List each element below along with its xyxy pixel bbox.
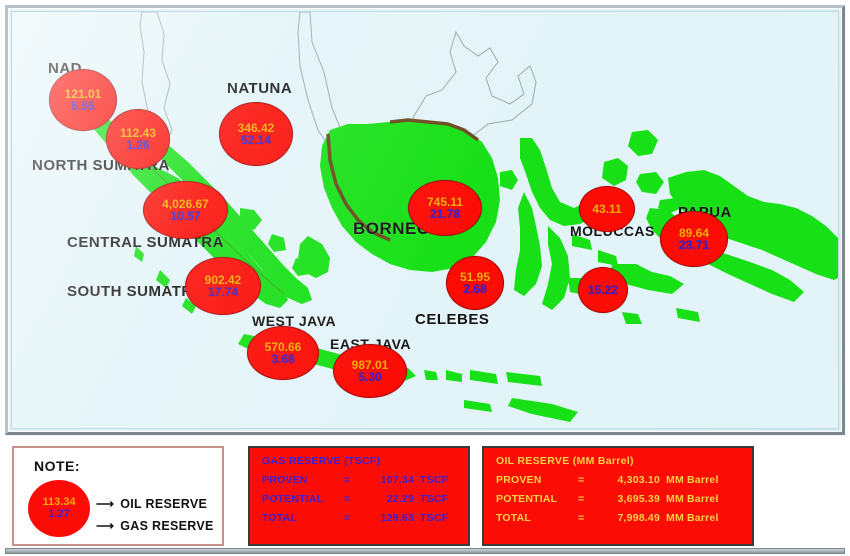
gas-potential-eq: = [344,493,360,505]
gas-total-unit: TSCF [420,512,448,524]
gas-proven-eq: = [344,474,360,486]
reserve-bubble-papua[interactable]: 89.64 23.71 [660,211,728,267]
reserve-bubble-celebes[interactable]: 51.95 2.68 [446,256,504,310]
reserve-bubble-nad[interactable]: 121.01 5.55 [49,69,117,131]
map-canvas[interactable]: NAD NATUNA NORTH SUMATRA CENTRAL SUMATRA… [11,11,839,429]
gas-value-papua: 23.71 [679,239,709,251]
oil-potential-unit: MM Barrel [666,493,719,505]
oil-total-eq: = [578,512,594,524]
gas-total-eq: = [344,512,360,524]
gas-reserve-panel: GAS RESERVE (TSCF) PROVEN = 107.34 TSCF … [248,446,470,546]
gas-proven-value: 107.34 [360,474,414,486]
note-row-oil: ⟶ OIL RESERVE [96,496,207,511]
gas-value-south-sumatra: 17.74 [208,286,238,298]
gas-potential-unit: TSCF [420,493,448,505]
oil-total-unit: MM Barrel [666,512,719,524]
arrow-right-icon-oil: ⟶ [96,496,114,511]
gas-value-nad: 5.55 [71,100,94,112]
gas-proven-label: PROVEN [262,474,344,486]
note-sample-gas-value: 1.27 [48,509,69,521]
region-label-celebes: CELEBES [415,311,489,328]
gas-value-west-java: 3.68 [271,353,294,365]
reserve-bubble-south-moluccas[interactable]: 15.22 [578,267,628,313]
oil-proven-unit: MM Barrel [666,474,719,486]
oil-total-value: 7,998.49 [594,512,660,524]
note-row-gas: ⟶ GAS RESERVE [96,518,214,533]
oil-row-potential: POTENTIAL = 3,695.39 MM Barrel [496,493,742,505]
note-sample-oil-value: 113.34 [42,497,75,509]
oil-total-label: TOTAL [496,512,578,524]
oil-row-proven: PROVEN = 4,303.10 MM Barrel [496,474,742,486]
gas-potential-label: POTENTIAL [262,493,344,505]
arrow-right-icon-gas: ⟶ [96,518,114,533]
reserve-bubble-moluccas[interactable]: 43.11 [579,186,635,232]
gas-value-central-sumatra: 10.57 [170,210,200,222]
gas-value-north-sumatra: 1.26 [126,139,149,151]
gas-row-potential: POTENTIAL = 22.29 TSCF [262,493,458,505]
gas-potential-value: 22.29 [360,493,414,505]
reserve-bubble-natuna[interactable]: 346.42 52.14 [219,102,293,166]
gas-value-borneo: 21.78 [430,208,460,220]
gas-row-total: TOTAL = 129.63 TSCF [262,512,458,524]
oil-row-total: TOTAL = 7,998.49 MM Barrel [496,512,742,524]
note-legend-box: NOTE: 113.34 1.27 ⟶ OIL RESERVE ⟶ GAS RE… [12,446,224,546]
region-label-natuna: NATUNA [227,80,292,97]
oil-proven-value: 4,303.10 [594,474,660,486]
reserve-bubble-central-sumatra[interactable]: 4,026.67 10.57 [143,181,228,239]
gas-value-south-moluccas: 15.22 [588,284,618,296]
bottom-frame-strip [5,548,845,554]
note-sample-bubble: 113.34 1.27 [28,480,90,537]
reserve-bubble-west-java[interactable]: 570.66 3.68 [247,326,319,380]
gas-value-east-java: 5.30 [358,371,381,383]
gas-total-value: 129.63 [360,512,414,524]
reserve-bubble-borneo[interactable]: 745.11 21.78 [408,180,482,236]
gas-value-natuna: 52.14 [241,134,271,146]
oil-value-moluccas: 43.11 [592,203,621,215]
reserve-bubble-east-java[interactable]: 987.01 5.30 [333,344,407,398]
reserve-bubble-north-sumatra[interactable]: 112.43 1.26 [106,109,170,169]
oil-potential-label: POTENTIAL [496,493,578,505]
region-label-south-sumatra: SOUTH SUMATRA [67,283,204,300]
gas-panel-title: GAS RESERVE (TSCF) [262,455,458,467]
oil-potential-value: 3,695.39 [594,493,660,505]
note-oil-label: OIL RESERVE [120,497,207,511]
oil-proven-label: PROVEN [496,474,578,486]
oil-reserve-panel: OIL RESERVE (MM Barrel) PROVEN = 4,303.1… [482,446,754,546]
gas-total-label: TOTAL [262,512,344,524]
reserve-bubble-south-sumatra[interactable]: 902.42 17.74 [185,257,261,315]
reserves-map-page: NAD NATUNA NORTH SUMATRA CENTRAL SUMATRA… [0,0,850,556]
gas-value-celebes: 2.68 [463,283,486,295]
gas-row-proven: PROVEN = 107.34 TSCF [262,474,458,486]
gas-proven-unit: TSCF [420,474,448,486]
note-gas-label: GAS RESERVE [120,519,213,533]
map-frame: NAD NATUNA NORTH SUMATRA CENTRAL SUMATRA… [5,5,845,435]
oil-potential-eq: = [578,493,594,505]
oil-proven-eq: = [578,474,594,486]
oil-panel-title: OIL RESERVE (MM Barrel) [496,455,742,467]
note-title: NOTE: [34,458,80,474]
